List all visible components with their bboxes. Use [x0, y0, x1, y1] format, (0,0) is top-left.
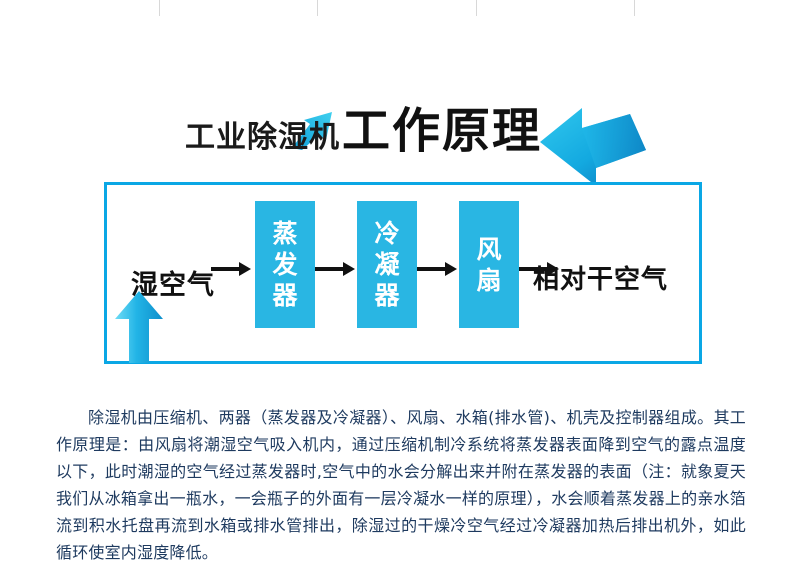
strip-cell — [0, 0, 160, 16]
strip-cell — [318, 0, 476, 16]
page-title-main: 工作原理 — [342, 103, 542, 159]
page-root: 工业除湿机工作原理 — [0, 0, 790, 587]
cyan-arrow-up-icon — [115, 291, 163, 363]
strip-cell — [160, 0, 318, 16]
flow-node-label: 风扇 — [472, 234, 506, 296]
flow-node-fan: 风扇 — [459, 201, 519, 328]
flow-node-condenser: 冷凝器 — [357, 201, 417, 328]
cyan-arrow-left-icon — [538, 106, 650, 188]
page-title-prefix: 工业除湿机 — [185, 120, 340, 155]
description-paragraph: 除湿机由压缩机、两器（蒸发器及冷凝器）、风扇、水箱(排水管)、机壳及控制器组成。… — [56, 404, 746, 566]
strip-cell — [477, 0, 635, 16]
flow-output-label: 相对干空气 — [533, 259, 668, 296]
title-banner: 工业除湿机工作原理 — [0, 48, 790, 158]
strip-cell — [635, 0, 790, 16]
arrow-right-icon — [315, 262, 355, 276]
working-principle-diagram: 湿空气 蒸发器 冷凝器 — [104, 182, 702, 364]
arrow-right-icon — [417, 262, 457, 276]
flow-node-label: 冷凝器 — [370, 218, 404, 311]
flow-node-label: 蒸发器 — [268, 218, 302, 311]
flow-node-evaporator: 蒸发器 — [255, 201, 315, 328]
arrow-right-icon — [211, 262, 251, 276]
top-image-strip — [0, 0, 790, 16]
page-title: 工业除湿机工作原理 — [185, 91, 542, 161]
flow-chart: 湿空气 蒸发器 冷凝器 — [107, 185, 705, 367]
description-text: 除湿机由压缩机、两器（蒸发器及冷凝器）、风扇、水箱(排水管)、机壳及控制器组成。… — [56, 404, 746, 566]
